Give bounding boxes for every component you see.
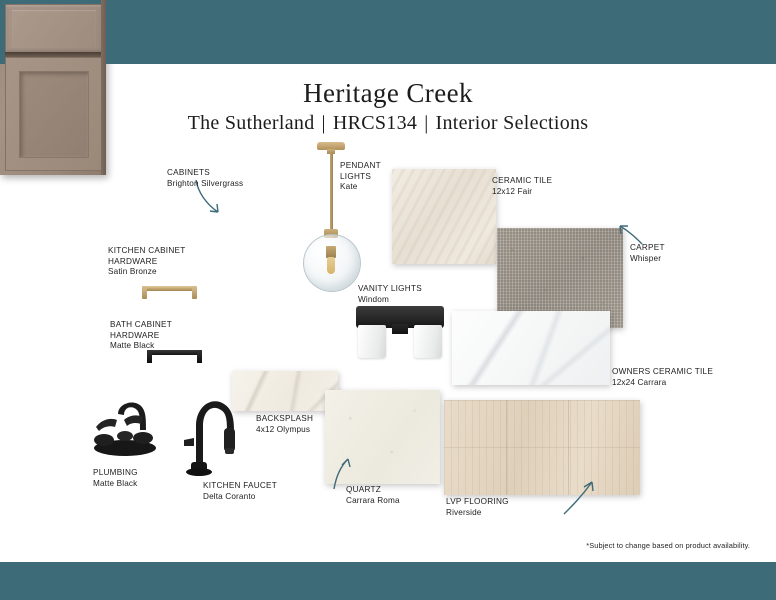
label-ceramic-value: 12x12 Fair xyxy=(492,187,552,198)
vanity-light-shade-right xyxy=(414,325,442,358)
cabinet-door-panel xyxy=(19,71,89,158)
subtitle-separator-1: | xyxy=(315,112,333,135)
label-lvp-flooring: LVP FLOORING Riverside xyxy=(446,497,509,518)
label-kitchen-faucet: KITCHEN FAUCET Delta Coranto xyxy=(203,481,277,502)
bronze-pull-post-right xyxy=(192,286,197,299)
kitchen-faucet-sample xyxy=(180,392,242,476)
footnote-disclaimer: *Subject to change based on product avai… xyxy=(586,541,750,550)
label-carpet: CARPET Whisper xyxy=(630,243,665,264)
bronze-pull-post-left xyxy=(142,286,147,299)
plan-name: The Sutherland xyxy=(188,112,315,134)
label-vanity-name: VANITY LIGHTS xyxy=(358,284,422,295)
label-kitchen-cabinet-hardware: KITCHEN CABINET HARDWARE Satin Bronze xyxy=(108,246,185,278)
label-carpet-value: Whisper xyxy=(630,254,665,265)
label-kitchen-hardware-name: KITCHEN CABINET xyxy=(108,246,185,257)
label-backsplash: BACKSPLASH 4x12 Olympus xyxy=(256,414,313,435)
label-backsplash-name: BACKSPLASH xyxy=(256,414,313,425)
pendant-stem-rod xyxy=(330,153,333,231)
label-kitchen-hardware-value: Satin Bronze xyxy=(108,267,185,278)
cabinet-door-sample xyxy=(0,0,106,175)
page-subtitle: The Sutherland|HRCS134|Interior Selectio… xyxy=(0,112,776,135)
label-plumbing-value: Matte Black xyxy=(93,479,138,490)
backsplash-tile-swatch xyxy=(232,371,338,411)
label-pendant-value: Kate xyxy=(340,182,381,193)
label-ceramic-tile: CERAMIC TILE 12x12 Fair xyxy=(492,176,552,197)
label-lvp-value: Riverside xyxy=(446,508,509,519)
doc-type: Interior Selections xyxy=(436,112,589,134)
label-owners-ceramic-name: OWNERS CERAMIC TILE xyxy=(612,367,713,378)
footer-band xyxy=(0,562,776,600)
label-cabinets: CABINETS Brighton Silvergrass xyxy=(167,168,243,189)
subtitle-separator-2: | xyxy=(417,112,435,135)
title-block: Heritage Creek The Sutherland|HRCS134|In… xyxy=(0,78,776,135)
label-vanity-value: Windom xyxy=(358,295,422,306)
label-bath-cabinet-hardware: BATH CABINET HARDWARE Matte Black xyxy=(110,320,172,352)
cabinet-drawer-front xyxy=(5,4,103,54)
label-pendant-name: PENDANT xyxy=(340,161,381,172)
label-lvp-name: LVP FLOORING xyxy=(446,497,509,508)
selection-sheet: Heritage Creek The Sutherland|HRCS134|In… xyxy=(0,0,776,600)
label-pendant-name2: LIGHTS xyxy=(340,172,381,183)
label-cabinets-value: Brighton Silvergrass xyxy=(167,179,243,190)
label-kitchen-faucet-value: Delta Coranto xyxy=(203,492,277,503)
owners-ceramic-tile-swatch xyxy=(452,311,610,385)
label-bath-hardware-name: BATH CABINET xyxy=(110,320,172,331)
label-backsplash-value: 4x12 Olympus xyxy=(256,425,313,436)
label-vanity-lights: VANITY LIGHTS Windom xyxy=(358,284,422,305)
satin-bronze-pull-sample xyxy=(138,284,200,300)
lvp-flooring-swatch xyxy=(444,400,640,495)
lvp-plank-seam xyxy=(568,400,569,495)
label-owners-ceramic-tile: OWNERS CERAMIC TILE 12x24 Carrara xyxy=(612,367,713,388)
label-owners-ceramic-value: 12x24 Carrara xyxy=(612,378,713,389)
cabinet-door-front xyxy=(5,57,103,171)
label-carpet-name: CARPET xyxy=(630,243,665,254)
bronze-pull-bar xyxy=(144,286,194,291)
label-kitchen-faucet-name: KITCHEN FAUCET xyxy=(203,481,277,492)
cabinet-drawer-inner xyxy=(12,10,96,48)
cabinet-side-panel xyxy=(101,0,106,175)
label-plumbing-name: PLUMBING xyxy=(93,468,138,479)
label-kitchen-hardware-name2: HARDWARE xyxy=(108,257,185,268)
label-bath-hardware-value: Matte Black xyxy=(110,341,172,352)
label-bath-hardware-name2: HARDWARE xyxy=(110,331,172,342)
label-ceramic-name: CERAMIC TILE xyxy=(492,176,552,187)
header-band xyxy=(0,0,776,64)
label-quartz: QUARTZ Carrara Roma xyxy=(346,485,400,506)
label-quartz-name: QUARTZ xyxy=(346,485,400,496)
vanity-light-sample xyxy=(356,306,444,358)
label-pendant-lights: PENDANT LIGHTS Kate xyxy=(340,161,381,193)
vanity-light-shade-left xyxy=(358,325,386,358)
page-title: Heritage Creek xyxy=(0,78,776,108)
label-plumbing: PLUMBING Matte Black xyxy=(93,468,138,489)
black-pull-post-left xyxy=(147,350,152,363)
bathroom-faucet-sample xyxy=(88,396,162,460)
label-quartz-value: Carrara Roma xyxy=(346,496,400,507)
label-cabinets-name: CABINETS xyxy=(167,168,243,179)
pendant-edison-bulb xyxy=(327,257,335,274)
black-pull-post-right xyxy=(197,350,202,363)
quartz-swatch xyxy=(325,390,440,484)
lvp-plank-seam xyxy=(506,400,507,495)
plan-code: HRCS134 xyxy=(333,112,417,134)
ceramic-tile-swatch xyxy=(392,169,496,264)
